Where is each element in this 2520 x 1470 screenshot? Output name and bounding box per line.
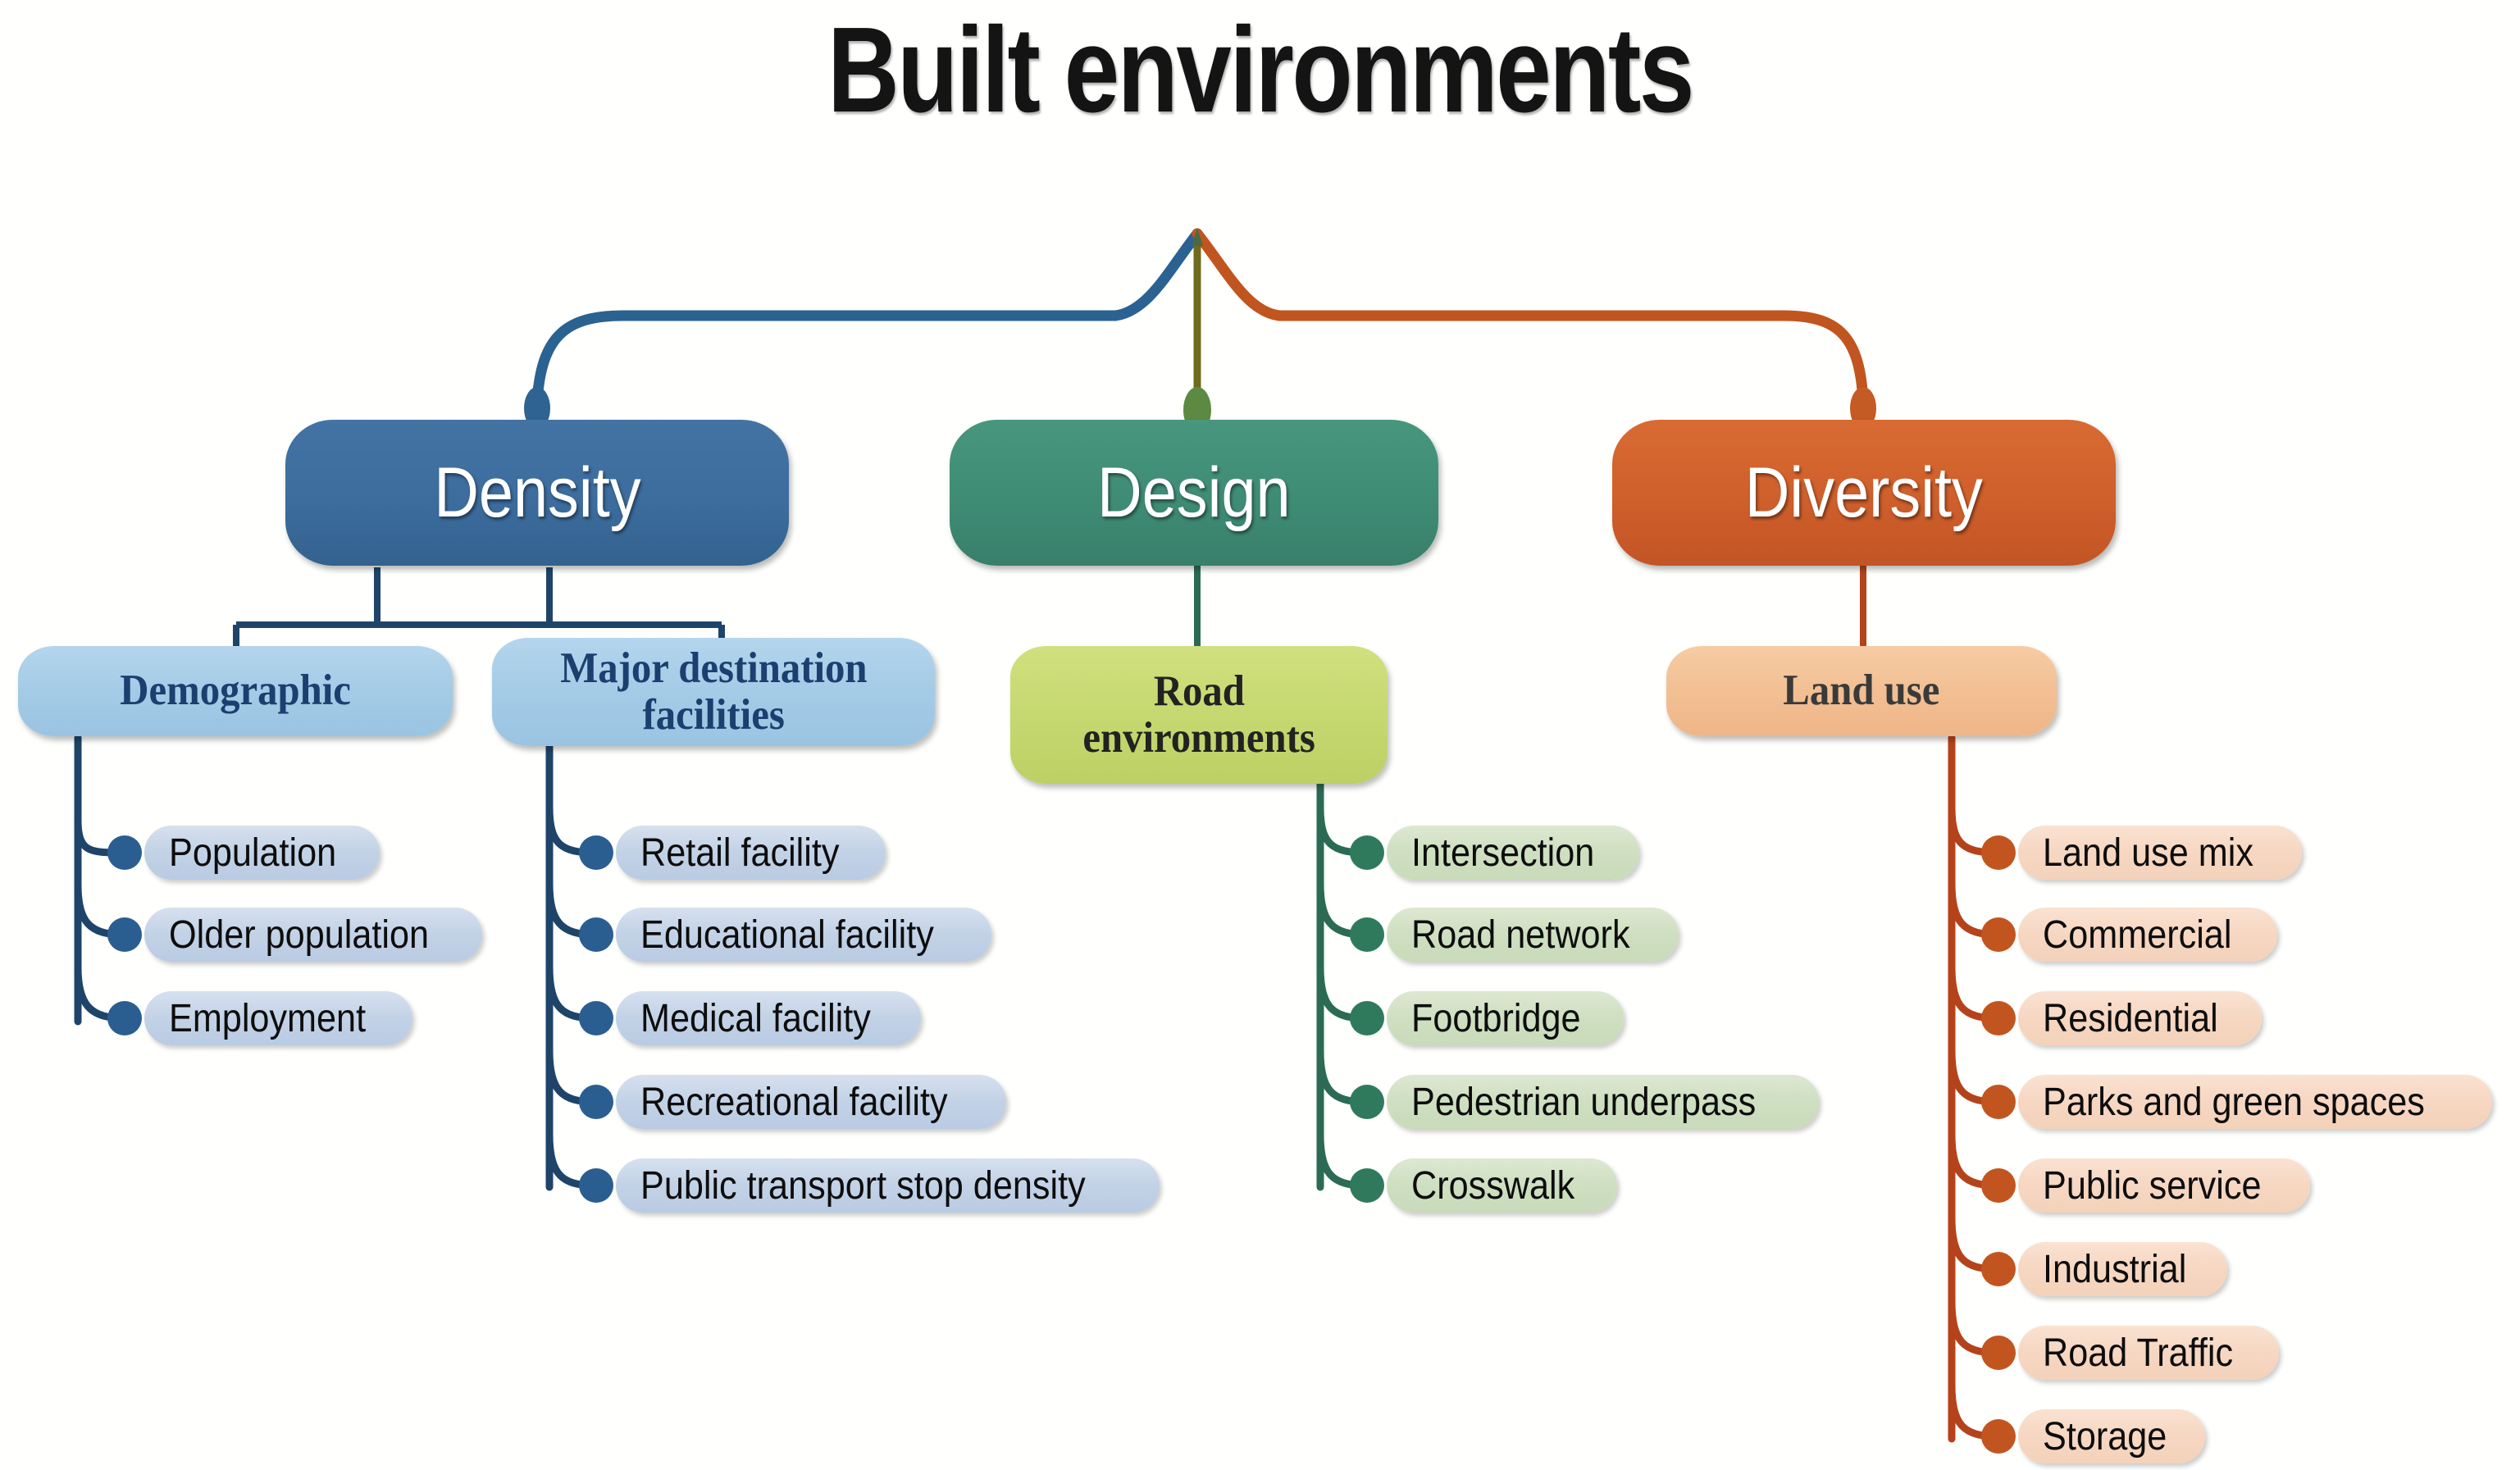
road-branch-2 [1320,884,1365,935]
leaf-employment[interactable]: Employment [144,991,412,1045]
road-branch-1 [1320,808,1365,853]
leaf-label: Intersection [1411,831,1594,876]
demographic-branch-2 [78,885,123,935]
leaf-label: Industrial [2043,1247,2186,1292]
landuse-leaf-dot [1981,1252,2016,1286]
demographic-leaf-dot [107,835,142,870]
group-node-road-line1: Road [1153,668,1244,715]
demographic-leaf-dot [107,917,142,952]
landuse-leaf-dot [1981,1419,2016,1454]
leaf-pedestrian-underpass[interactable]: Pedestrian underpass [1387,1075,1819,1129]
landuse-leaf-dot [1981,1168,2016,1203]
group-node-major-line2: facilities [642,692,784,739]
landuse-branch-5 [1952,1135,1997,1186]
root-to-diversity-connector [1197,234,1863,402]
leaf-label: Parks and green spaces [2043,1080,2425,1125]
road-leaf-dot [1350,835,1384,870]
landuse-branch-8 [1952,1386,1997,1436]
branch-node-design-label: Design [1097,453,1291,534]
major-branch-3 [549,967,595,1018]
group-node-demographic[interactable]: Demographic [18,646,453,736]
landuse-branch-4 [1952,1051,1997,1102]
leaf-label: Residential [2043,996,2218,1041]
road-leaf-dot [1350,1085,1384,1119]
road-leaf-dot [1350,1168,1384,1203]
landuse-branch-2 [1952,884,1997,935]
leaf-label: Storage [2043,1414,2167,1459]
leaf-residential[interactable]: Residential [2018,991,2262,1045]
leaf-label: Public transport stop density [640,1163,1086,1208]
leaf-commercial[interactable]: Commercial [2018,908,2277,962]
leaf-medical-facility[interactable]: Medical facility [616,991,921,1045]
leaf-intersection[interactable]: Intersection [1387,826,1639,880]
page-title: Built environments [227,7,2294,134]
leaf-footbridge[interactable]: Footbridge [1387,991,1624,1045]
group-node-major-line1: Major destination [560,645,867,692]
branch-node-diversity[interactable]: Diversity [1612,420,2116,566]
leaf-label: Educational facility [640,912,934,958]
branch-node-density-label: Density [434,453,640,534]
landuse-leaf-dot [1981,835,2016,870]
major-leaf-dot [579,917,613,952]
road-leaf-dot [1350,917,1384,952]
leaf-industrial[interactable]: Industrial [2018,1242,2227,1296]
major-leaf-dot [579,1085,613,1119]
leaf-population[interactable]: Population [144,826,380,880]
major-branch-5 [549,1135,595,1186]
road-leaf-dot [1350,1001,1384,1035]
leaf-label: Population [169,831,336,876]
major-branch-1 [549,808,595,853]
major-leaf-dot [579,835,613,870]
leaf-label: Retail facility [640,831,839,876]
leaf-parks-and-green-spaces[interactable]: Parks and green spaces [2018,1075,2492,1129]
leaf-label: Medical facility [640,996,871,1041]
leaf-public-service[interactable]: Public service [2018,1158,2310,1213]
leaf-retail-facility[interactable]: Retail facility [616,826,886,880]
major-leaf-dot [579,1001,613,1035]
leaf-label: Employment [169,996,366,1041]
leaf-label: Public service [2043,1163,2261,1208]
major-leaf-dot [579,1168,613,1203]
leaf-educational-facility[interactable]: Educational facility [616,908,991,962]
demographic-branch-3 [78,967,123,1018]
leaf-label: Road Traffic [2043,1331,2233,1376]
leaf-label: Pedestrian underpass [1411,1080,1756,1125]
leaf-label: Commercial [2043,912,2231,958]
leaf-label: Footbridge [1411,996,1581,1041]
group-node-land-use-label: Land use [1783,667,1939,714]
group-node-major-destination-facilities[interactable]: Major destination facilities [492,638,935,746]
leaf-label: Older population [169,912,429,958]
leaf-road-network[interactable]: Road network [1387,908,1679,962]
major-branch-2 [549,884,595,935]
diagram-canvas: Built environments [0,0,2520,1470]
major-branch-4 [549,1051,595,1102]
leaf-road-traffic[interactable]: Road Traffic [2018,1326,2279,1380]
landuse-leaf-dot [1981,1336,2016,1370]
landuse-leaf-dot [1981,1001,2016,1035]
landuse-leaf-dot [1981,1085,2016,1119]
branch-node-diversity-label: Diversity [1745,453,1983,534]
leaf-label: Road network [1411,912,1630,958]
road-branch-5 [1320,1135,1365,1186]
leaf-older-population[interactable]: Older population [144,908,482,962]
landuse-branch-6 [1952,1218,1997,1269]
demographic-leaf-dot [107,1001,142,1035]
branch-node-density[interactable]: Density [285,420,789,566]
demographic-branch-1 [78,820,123,853]
leaf-storage[interactable]: Storage [2018,1409,2205,1463]
landuse-leaf-dot [1981,917,2016,952]
landuse-branch-7 [1952,1302,1997,1353]
road-branch-4 [1320,1051,1365,1102]
leaf-label: Recreational facility [640,1080,948,1125]
leaf-crosswalk[interactable]: Crosswalk [1387,1158,1617,1213]
group-node-land-use[interactable]: Land use [1666,646,2057,736]
root-to-density-connector [537,234,1197,402]
leaf-label: Crosswalk [1411,1163,1574,1208]
branch-node-design[interactable]: Design [950,420,1438,566]
leaf-recreational-facility[interactable]: Recreational facility [616,1075,1006,1129]
landuse-branch-1 [1952,808,1997,853]
group-node-road-environments[interactable]: Road environments [1010,646,1388,784]
group-node-road-line2: environments [1082,715,1315,762]
leaf-land-use-mix[interactable]: Land use mix [2018,826,2302,880]
leaf-label: Land use mix [2043,831,2253,876]
landuse-branch-3 [1952,967,1997,1018]
leaf-public-transport-stop-density[interactable]: Public transport stop density [616,1158,1160,1213]
root-apex [1192,228,1203,246]
road-branch-3 [1320,967,1365,1018]
group-node-demographic-label: Demographic [120,667,351,714]
